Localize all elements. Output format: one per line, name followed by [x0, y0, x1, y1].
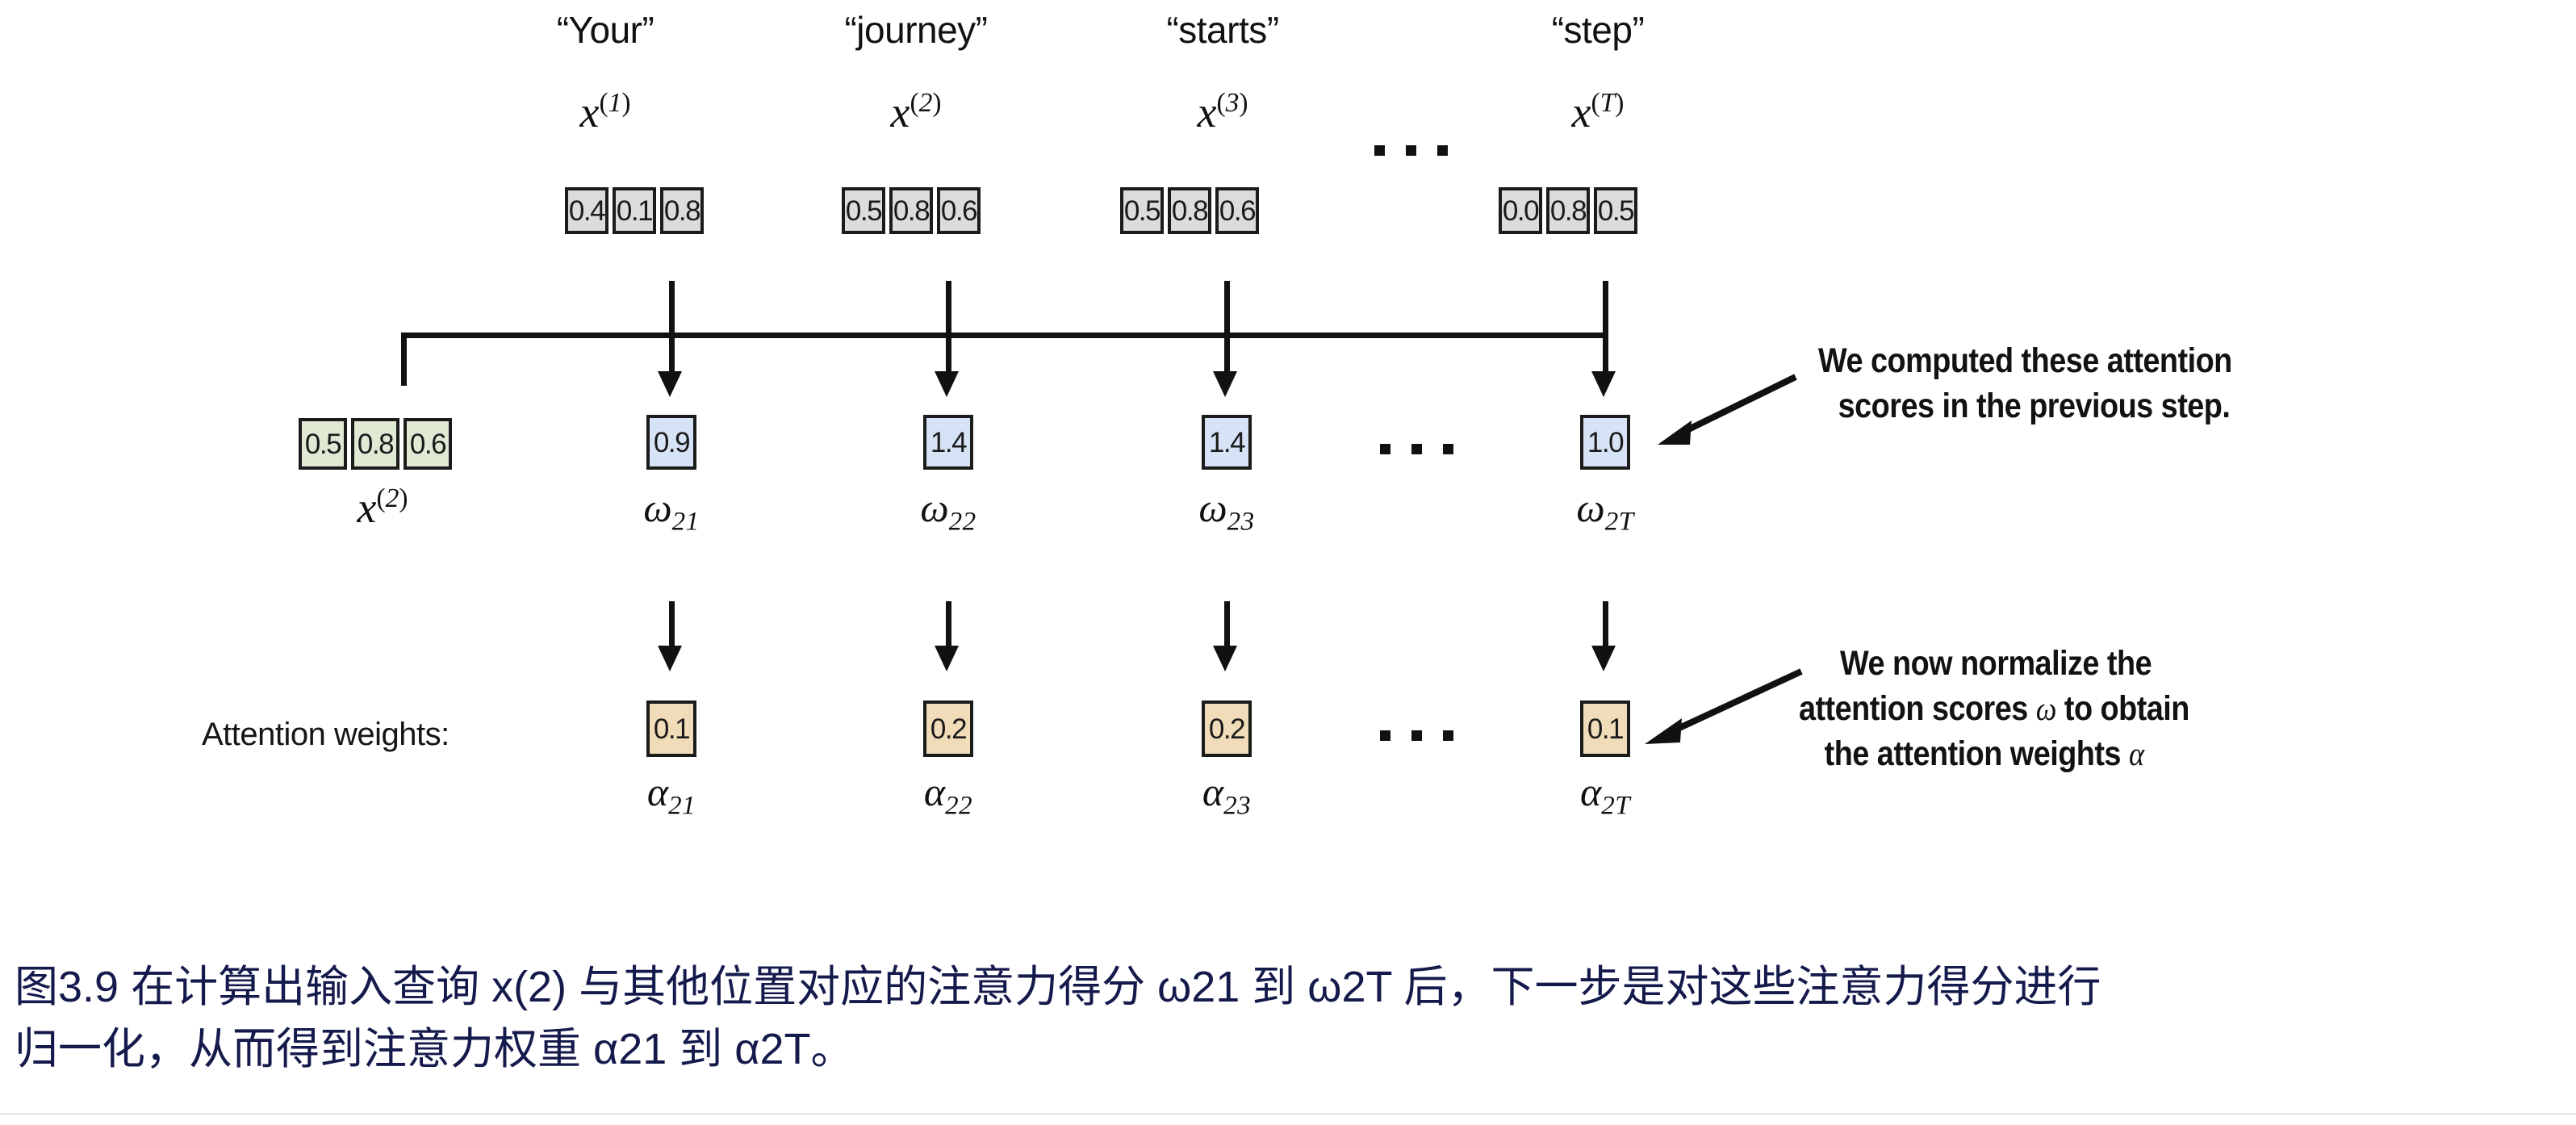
ellipsis-input-symbols	[1374, 145, 1448, 156]
input-symbol-base-2: x	[1197, 88, 1216, 136]
input-cell: 0.8	[1168, 187, 1211, 234]
omega-glyph: ω	[920, 485, 948, 530]
callout-weights-line-3a: the attention weights	[1825, 734, 2129, 773]
bus-left-elbow	[401, 332, 407, 386]
normalize-arrow-head-3	[1591, 646, 1616, 671]
input-symbol-0: x(1)	[516, 87, 694, 137]
bus-horizontal-bar	[401, 332, 1608, 338]
omega-glyph: ω	[1576, 485, 1604, 530]
attention-weight-box-1: 0.2	[923, 701, 973, 757]
callout-weights-line-1: We now normalize the	[1840, 642, 2189, 687]
input-symbol-index-0: 1	[608, 88, 622, 118]
query-vector: 0.5 0.8 0.6	[299, 418, 452, 470]
normalize-arrow-stem-3	[1603, 601, 1608, 650]
input-cell: 0.8	[1546, 187, 1590, 234]
normalize-arrow-head-0	[658, 646, 682, 671]
attention-weight-label-0: α21	[591, 768, 752, 815]
input-symbol-index-3: T	[1600, 88, 1616, 118]
bus-arrow-2	[1213, 371, 1237, 397]
input-cell: 0.6	[937, 187, 981, 234]
callout-scores: We computed these attention scores in th…	[1818, 339, 2232, 429]
callout-scores-line-2: scores in the previous step.	[1838, 384, 2232, 429]
ellipsis-attention-scores	[1380, 444, 1453, 454]
input-symbol-base-1: x	[890, 88, 910, 136]
callout-scores-line-1: We computed these attention	[1818, 339, 2232, 384]
token-word-3: “step”	[1509, 8, 1687, 52]
query-cell: 0.6	[404, 418, 452, 470]
input-vector-3: 0.0 0.8 0.5	[1499, 187, 1637, 234]
omega-glyph: ω	[2036, 690, 2056, 727]
normalize-arrow-stem-0	[669, 601, 675, 650]
alpha-subscript: 22	[945, 792, 972, 821]
attention-weight-label-1: α22	[868, 768, 1029, 815]
alpha-glyph: α	[2129, 735, 2144, 772]
figure-caption: 图3.9 在计算出输入查询 x(2) 与其他位置对应的注意力得分 ω21 到 ω…	[15, 956, 2565, 1080]
ellipsis-dot	[1380, 444, 1390, 454]
omega-subscript: 23	[1227, 508, 1255, 537]
normalize-arrow-head-2	[1213, 646, 1237, 671]
ellipsis-dot	[1374, 145, 1385, 156]
omega-subscript: 21	[672, 508, 700, 537]
alpha-subscript: 21	[668, 792, 696, 821]
alpha-glyph: α	[647, 769, 668, 814]
bus-arrow-3	[1591, 371, 1616, 397]
input-vector-1: 0.5 0.8 0.6	[842, 187, 981, 234]
attention-score-box-2: 1.4	[1202, 415, 1252, 470]
ellipsis-dot	[1406, 145, 1416, 156]
input-cell: 0.8	[889, 187, 933, 234]
normalize-arrow-head-1	[935, 646, 959, 671]
input-symbol-base-0: x	[579, 88, 599, 136]
bus-stem-1	[946, 281, 951, 374]
caption-bottom-rule	[0, 1113, 2576, 1115]
input-cell: 0.8	[660, 187, 704, 234]
attention-weight-label-2: α23	[1146, 768, 1307, 815]
bus-arrow-0	[658, 371, 682, 397]
bus-stem-0	[669, 281, 675, 374]
bus-stem-2	[1224, 281, 1230, 374]
ellipsis-dot	[1380, 730, 1390, 741]
bus-arrow-1	[935, 371, 959, 397]
ellipsis-attention-weights	[1380, 730, 1453, 741]
input-symbol-base-3: x	[1572, 88, 1591, 136]
input-cell: 0.4	[565, 187, 608, 234]
callout-weights-line-2b: to obtain	[2056, 689, 2189, 728]
alpha-subscript: 2T	[1601, 792, 1630, 821]
attention-score-label-0: ω21	[591, 484, 752, 531]
input-cell: 0.5	[1594, 187, 1637, 234]
input-cell: 0.6	[1215, 187, 1259, 234]
attention-score-label-2: ω23	[1146, 484, 1307, 531]
token-word-0: “Your”	[516, 8, 694, 52]
normalize-arrow-stem-1	[946, 601, 951, 650]
input-symbol-1: x(2)	[807, 87, 1025, 137]
token-word-1: “journey”	[807, 8, 1025, 52]
figure-caption-line-1: 图3.9 在计算出输入查询 x(2) 与其他位置对应的注意力得分 ω21 到 ω…	[15, 956, 2565, 1018]
bus-stem-3	[1603, 281, 1608, 374]
attention-weight-label-3: α2T	[1524, 768, 1686, 815]
ellipsis-dot	[1437, 145, 1448, 156]
input-cell: 0.5	[1120, 187, 1164, 234]
query-symbol-index: 2	[386, 483, 399, 513]
input-cell: 0.5	[842, 187, 885, 234]
alpha-subscript: 23	[1223, 792, 1251, 821]
ellipsis-dot	[1443, 444, 1453, 454]
callout-weights-line-3: the attention weights α	[1825, 732, 2189, 777]
attention-score-box-3: 1.0	[1580, 415, 1630, 470]
callout-weights-line-2: attention scores ω to obtain	[1799, 687, 2189, 732]
input-cell: 0.1	[613, 187, 656, 234]
ellipsis-dot	[1411, 730, 1422, 741]
input-symbol-2: x(3)	[1130, 87, 1315, 137]
ellipsis-dot	[1443, 730, 1453, 741]
input-vector-2: 0.5 0.8 0.6	[1120, 187, 1259, 234]
attention-score-box-1: 1.4	[923, 415, 973, 470]
callout-weights: We now normalize the attention scores ω …	[1840, 642, 2189, 777]
callout-weights-arrow	[1622, 662, 1816, 759]
query-symbol-base: x	[357, 483, 376, 532]
input-cell: 0.0	[1499, 187, 1542, 234]
attention-weight-box-0: 0.1	[646, 701, 696, 757]
normalize-arrow-stem-2	[1224, 601, 1230, 650]
input-vector-0: 0.4 0.1 0.8	[565, 187, 704, 234]
input-symbol-3: x(T)	[1509, 87, 1687, 137]
omega-glyph: ω	[1198, 485, 1227, 530]
ellipsis-dot	[1411, 444, 1422, 454]
attention-score-label-1: ω22	[868, 484, 1029, 531]
omega-subscript: 2T	[1605, 508, 1634, 537]
figure-canvas: “Your” “journey” “starts” “step” x(1) x(…	[0, 0, 2576, 1125]
query-cell: 0.5	[299, 418, 347, 470]
input-symbol-index-2: 3	[1226, 88, 1240, 118]
omega-subscript: 22	[949, 508, 976, 537]
alpha-glyph: α	[924, 769, 945, 814]
omega-glyph: ω	[643, 485, 671, 530]
attention-weights-label: Attention weights:	[202, 717, 450, 753]
alpha-glyph: α	[1580, 769, 1601, 814]
attention-score-label-3: ω2T	[1524, 484, 1686, 531]
query-cell: 0.8	[351, 418, 399, 470]
callout-scores-arrow	[1638, 367, 1808, 456]
alpha-glyph: α	[1202, 769, 1223, 814]
callout-weights-line-2a: attention scores	[1799, 689, 2036, 728]
figure-caption-line-2: 归一化，从而得到注意力权重 α21 到 α2T。	[15, 1018, 2565, 1081]
input-symbol-index-1: 2	[919, 88, 933, 118]
query-symbol: x(2)	[299, 483, 466, 533]
attention-score-box-0: 0.9	[646, 415, 696, 470]
token-word-2: “starts”	[1130, 8, 1315, 52]
attention-weight-box-2: 0.2	[1202, 701, 1252, 757]
